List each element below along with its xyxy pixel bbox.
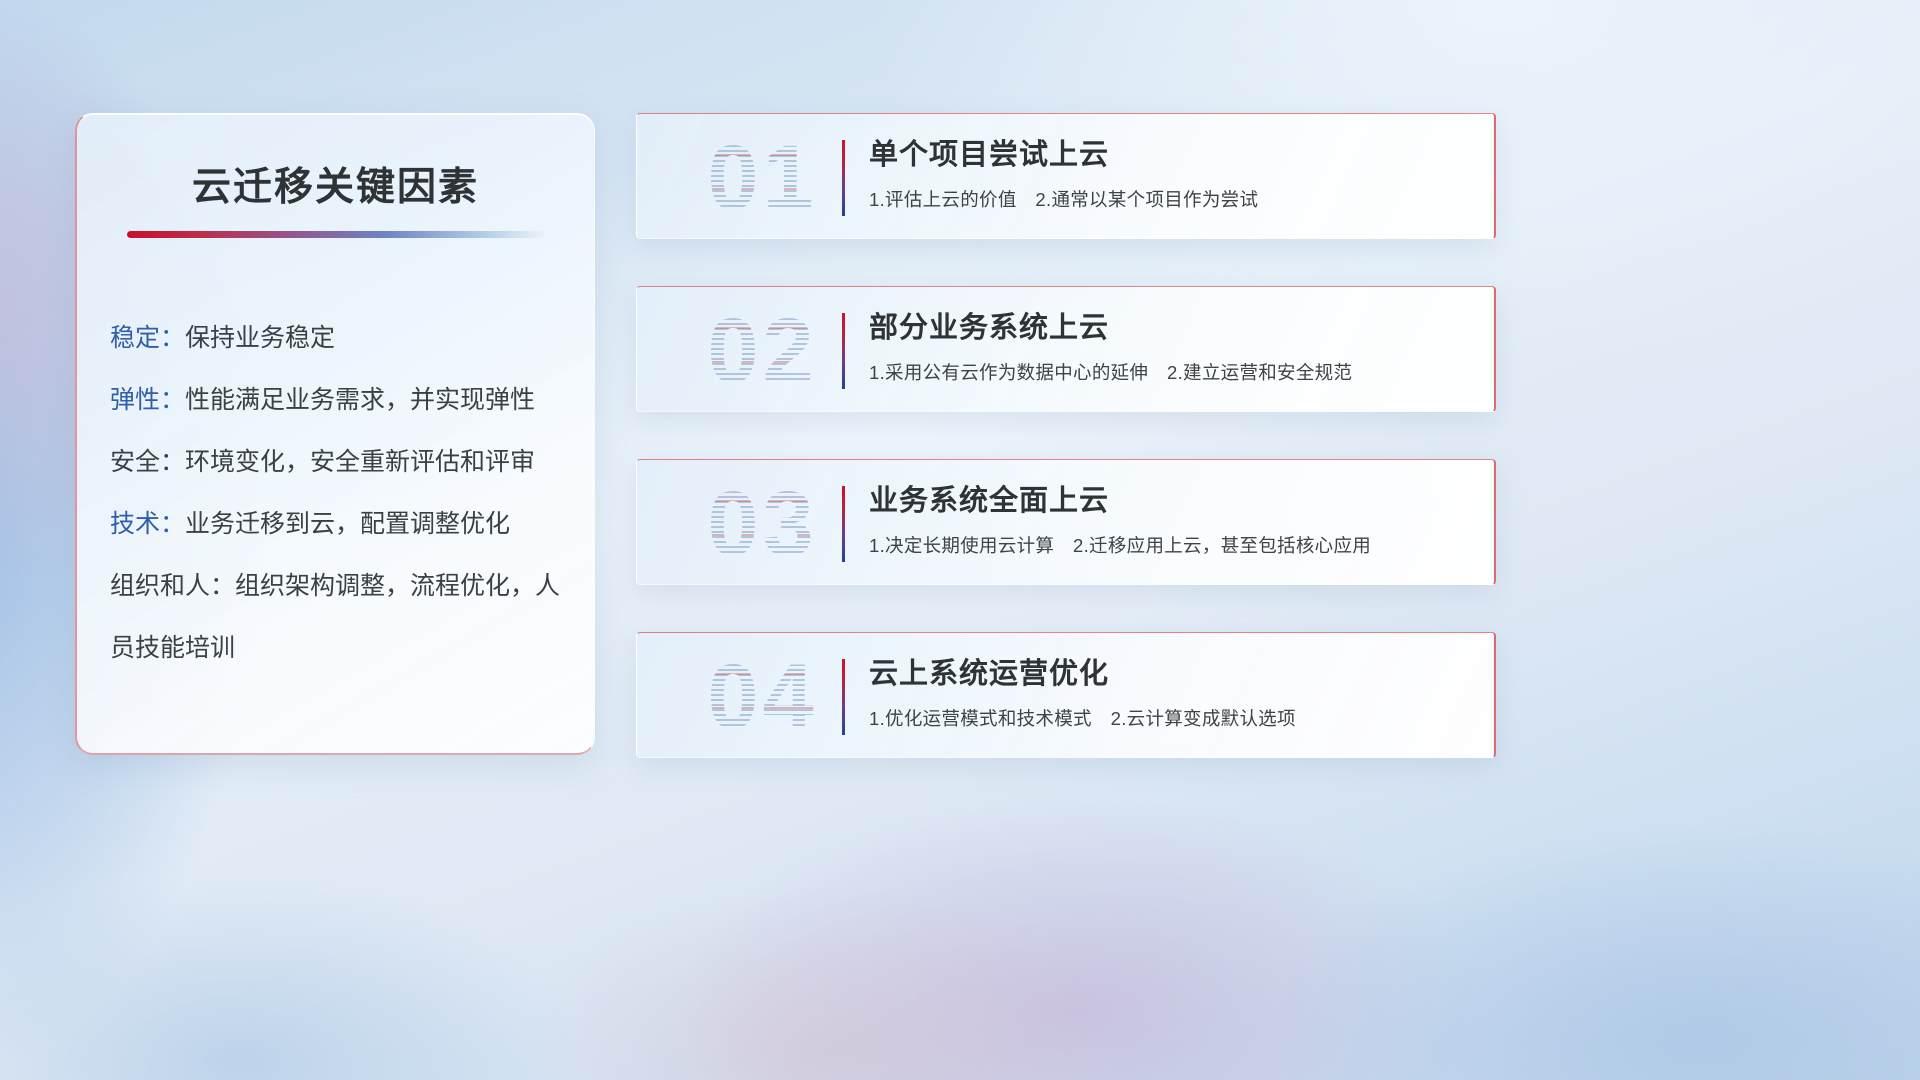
key-factor-item: 安全：环境变化，安全重新评估和评审 <box>110 431 570 493</box>
key-factor-item: 技术：业务迁移到云，配置调整优化 <box>110 493 570 555</box>
stage-number-watermark-tint: 01 <box>675 120 850 236</box>
stage-divider-accent <box>842 486 845 562</box>
stage-number-watermark-tint: 02 <box>675 293 850 409</box>
stage-subtitle: 1.采用公有云作为数据中心的延伸 2.建立运营和安全规范 <box>869 360 1476 386</box>
key-factor-label: 安全： <box>110 448 185 476</box>
stage-card-body: 单个项目尝试上云1.评估上云的价值 2.通常以某个项目作为尝试 <box>869 135 1476 213</box>
stage-card[interactable]: 0303业务系统全面上云1.决定长期使用云计算 2.迁移应用上云，甚至包括核心应… <box>636 459 1496 585</box>
key-factor-label: 技术： <box>110 510 185 538</box>
stages-card-list: 0101单个项目尝试上云1.评估上云的价值 2.通常以某个项目作为尝试0202部… <box>636 113 1496 805</box>
key-factor-item: 弹性：性能满足业务需求，并实现弹性 <box>110 369 570 431</box>
stage-title: 云上系统运营优化 <box>869 654 1476 694</box>
stage-subtitle: 1.评估上云的价值 2.通常以某个项目作为尝试 <box>869 187 1476 213</box>
stage-card[interactable]: 0404云上系统运营优化1.优化运营模式和技术模式 2.云计算变成默认选项 <box>636 632 1496 758</box>
key-factor-item: 稳定：保持业务稳定 <box>110 307 570 369</box>
stage-number-watermark-tint: 04 <box>675 639 850 755</box>
key-factor-text: 业务迁移到云，配置调整优化 <box>185 510 510 538</box>
stage-title: 业务系统全面上云 <box>869 481 1476 521</box>
stage-card-body: 业务系统全面上云1.决定长期使用云计算 2.迁移应用上云，甚至包括核心应用 <box>869 481 1476 559</box>
panel-title: 云迁移关键因素 <box>77 156 594 212</box>
stage-card[interactable]: 0101单个项目尝试上云1.评估上云的价值 2.通常以某个项目作为尝试 <box>636 113 1496 239</box>
stage-card-body: 部分业务系统上云1.采用公有云作为数据中心的延伸 2.建立运营和安全规范 <box>869 308 1476 386</box>
stage-card[interactable]: 0202部分业务系统上云1.采用公有云作为数据中心的延伸 2.建立运营和安全规范 <box>636 286 1496 412</box>
key-factors-panel: 云迁移关键因素 稳定：保持业务稳定弹性：性能满足业务需求，并实现弹性安全：环境变… <box>75 113 595 755</box>
stage-title: 单个项目尝试上云 <box>869 135 1476 175</box>
stage-title: 部分业务系统上云 <box>869 308 1476 348</box>
stage-divider-accent <box>842 659 845 735</box>
key-factor-label: 弹性： <box>110 386 185 414</box>
key-factor-text: 环境变化，安全重新评估和评审 <box>185 448 535 476</box>
key-factor-label: 组织和人： <box>110 572 235 600</box>
stage-divider-accent <box>842 140 845 216</box>
key-factor-text: 保持业务稳定 <box>185 324 335 352</box>
key-factor-item: 组织和人：组织架构调整，流程优化，人员技能培训 <box>110 555 570 679</box>
stage-card-body: 云上系统运营优化1.优化运营模式和技术模式 2.云计算变成默认选项 <box>869 654 1476 732</box>
title-underline-accent <box>127 231 547 238</box>
key-factor-label: 稳定： <box>110 324 185 352</box>
stage-subtitle: 1.决定长期使用云计算 2.迁移应用上云，甚至包括核心应用 <box>869 533 1476 559</box>
stage-divider-accent <box>842 313 845 389</box>
stage-number-watermark-tint: 03 <box>675 466 850 582</box>
stage-subtitle: 1.优化运营模式和技术模式 2.云计算变成默认选项 <box>869 706 1476 732</box>
key-factor-text: 性能满足业务需求，并实现弹性 <box>185 386 535 414</box>
key-factors-list: 稳定：保持业务稳定弹性：性能满足业务需求，并实现弹性安全：环境变化，安全重新评估… <box>110 307 570 679</box>
